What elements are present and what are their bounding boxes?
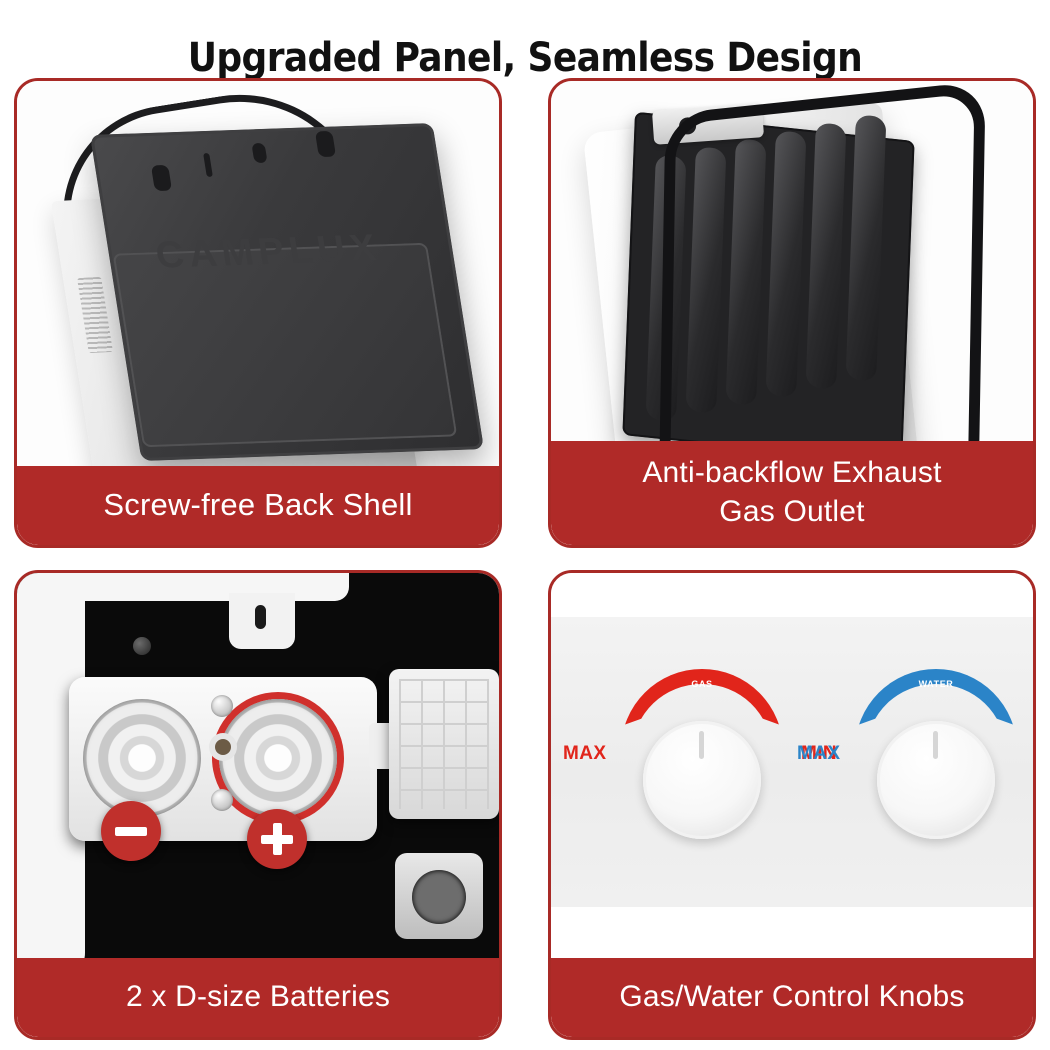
- feature-card-grid: CAMPLUX Screw-free Back Shell ▲CAMPLUX A…: [14, 78, 1036, 1038]
- water-max-label: MAX: [797, 743, 840, 765]
- battery-terminal-negative: [83, 699, 201, 817]
- card-caption: Anti-backflow Exhaust Gas Outlet: [551, 441, 1033, 545]
- gas-max-label: MAX: [563, 743, 606, 765]
- gas-control-knob[interactable]: GAS MAX MIN: [607, 669, 797, 859]
- water-knob-dial[interactable]: [877, 721, 995, 839]
- card-caption: Gas/Water Control Knobs: [551, 958, 1033, 1037]
- card-caption: 2 x D-size Batteries: [17, 958, 499, 1037]
- product-photo-battery-compartment: [17, 573, 499, 958]
- card-caption: Screw-free Back Shell: [17, 466, 499, 545]
- water-arc-label: WATER: [841, 679, 1031, 689]
- water-inlet-filter: [395, 853, 483, 939]
- mount-bracket: [229, 593, 295, 649]
- brand-logo: CAMPLUX: [153, 227, 384, 277]
- drain-hole: [215, 739, 231, 755]
- heater-top-edge: [49, 573, 349, 601]
- screw-icon: [211, 695, 233, 717]
- infographic-page: Upgraded Panel, Seamless Design CAMPLUX …: [0, 0, 1050, 1050]
- product-photo-back-shell: CAMPLUX: [17, 81, 499, 466]
- gas-arc-label: GAS: [607, 679, 797, 689]
- carry-handle-frame-icon: [658, 81, 985, 441]
- product-photo-exhaust-outlet: ▲CAMPLUX: [551, 81, 1033, 441]
- feature-card-screw-free-back-shell[interactable]: CAMPLUX Screw-free Back Shell: [14, 78, 502, 548]
- product-photo-control-panel: GAS MAX MIN WATER MAX MIN: [551, 573, 1033, 958]
- battery-door: [389, 669, 499, 819]
- screw-icon: [211, 789, 233, 811]
- plus-badge-icon: [247, 809, 307, 869]
- minus-badge-icon: [101, 801, 161, 861]
- feature-card-d-size-batteries[interactable]: 2 x D-size Batteries: [14, 570, 502, 1040]
- screw-icon: [133, 637, 151, 655]
- card-caption-line-2: Gas Outlet: [561, 492, 1023, 531]
- gas-knob-dial[interactable]: [643, 721, 761, 839]
- card-caption-line-1: Anti-backflow Exhaust: [561, 453, 1023, 492]
- feature-card-gas-water-control-knobs[interactable]: GAS MAX MIN WATER MAX MIN Gas/Water Cont…: [548, 570, 1036, 1040]
- battery-terminal-positive: [219, 699, 337, 817]
- feature-card-anti-backflow-exhaust[interactable]: ▲CAMPLUX Anti-backflow Exhaust Gas Outle…: [548, 78, 1036, 548]
- water-control-knob[interactable]: WATER MAX MIN: [841, 669, 1031, 859]
